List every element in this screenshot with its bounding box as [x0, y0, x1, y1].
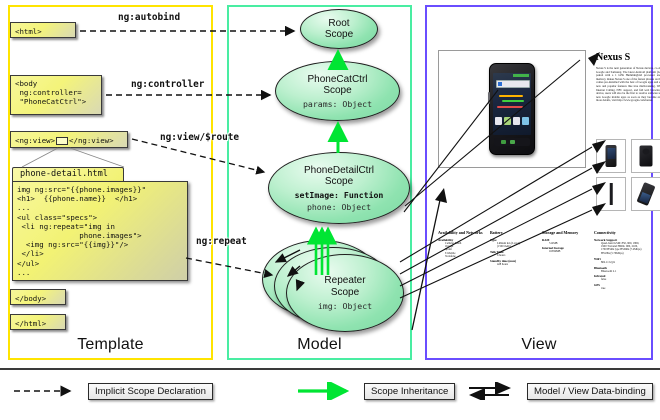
scope-phonecatctrl: PhoneCatCtrl Scope params: Object	[275, 61, 400, 121]
scope-root: Root Scope	[300, 9, 378, 49]
legend: Implicit Scope Declaration Scope Inherit…	[0, 368, 660, 420]
wallpaper-stripe-red	[497, 106, 523, 108]
spec-value: false	[594, 278, 642, 281]
phone-statusbar-icon	[513, 74, 529, 77]
phone-app-dock	[495, 117, 529, 128]
scope-phonecatctrl-title-line1: PhoneCatCtrl	[307, 74, 367, 85]
scope-phonecatctrl-title-line2: Scope	[323, 85, 351, 96]
product-description: Nexus S is the next generation of Nexus …	[596, 67, 660, 103]
code-html-open: <html>	[10, 22, 76, 38]
scope-repeater-member-img: img: Object	[318, 301, 372, 311]
scope-phonedetailctrl-member-setimage: setImage: Function	[295, 190, 384, 200]
thumbnail-3[interactable]	[596, 177, 626, 211]
phone-side-thumb-icon	[610, 183, 613, 205]
phone-detail-file: phone-detail.html img ng:src="{{phone.im…	[12, 167, 198, 283]
scope-phonedetailctrl-title-line2: Scope	[325, 176, 353, 187]
app-icon-1	[495, 117, 502, 125]
ngview-slot-icon	[56, 137, 68, 145]
dashed-arrow-icon	[10, 382, 82, 400]
edge-label-controller: ng:controller	[131, 79, 204, 90]
scope-repeater-title: Repeater Scope	[324, 275, 365, 298]
spec-header-connectivity: Connectivity	[594, 230, 642, 235]
scope-phonedetailctrl-member-phone: phone: Object	[307, 202, 371, 212]
scope-phonecatctrl-title: PhoneCatCtrl Scope	[307, 74, 367, 97]
diagram-canvas: <html> <body ng:controller= "PhoneCatCtr…	[0, 0, 660, 420]
spec-table: Availability and Networks Availability C…	[438, 230, 644, 330]
spec-value: Bluetooth 2.1	[594, 270, 642, 273]
scope-repeater-front: Repeater Scope img: Object	[286, 254, 404, 332]
double-arrow-icon	[465, 382, 521, 400]
ngview-open-tag: <ng:view>	[15, 136, 55, 145]
scope-root-title: Root Scope	[325, 18, 353, 41]
spec-value: true	[594, 287, 642, 290]
app-icon-2	[504, 117, 511, 125]
ngview-close-tag: </ng:view>	[69, 136, 114, 145]
spec-value: 428 hours	[490, 263, 538, 266]
phone-hardware-buttons-icon	[494, 138, 530, 146]
scope-phonecatctrl-member-params: params: Object	[303, 99, 372, 109]
scope-phonedetailctrl: PhoneDetailCtrl Scope setImage: Function…	[268, 152, 410, 224]
phone-screen	[493, 73, 531, 135]
phone-back-thumb-icon	[640, 146, 653, 167]
legend-divider	[0, 368, 660, 370]
detail-filename-tab: phone-detail.html	[12, 167, 124, 182]
phone-angle-thumb-icon	[637, 182, 656, 206]
app-icon-3	[513, 117, 520, 125]
thumbnail-2[interactable]	[631, 139, 660, 173]
spec-column-availability: Availability and Networks Availability C…	[438, 230, 486, 259]
spec-header-availability: Availability and Networks	[438, 230, 486, 235]
spec-column-storage: Storage and Memory RAM 512MB Internal St…	[542, 230, 590, 254]
spec-column-connectivity: Connectivity Network Support Quad-band G…	[594, 230, 642, 291]
spec-header-storage: Storage and Memory	[542, 230, 590, 235]
spec-value: 512MB	[542, 242, 590, 245]
app-icon-4	[522, 117, 529, 125]
thumbnail-4[interactable]	[631, 177, 660, 211]
wallpaper-stripe-orange	[499, 95, 523, 97]
scope-phonedetailctrl-title-line1: PhoneDetailCtrl	[304, 165, 374, 176]
spec-header-battery: Battery	[490, 230, 538, 235]
legend-label-implicit-scope: Implicit Scope Declaration	[88, 383, 213, 400]
code-ngview: <ng:view></ng:view>	[10, 131, 128, 148]
spec-value: 802.11 b/g/n	[594, 261, 642, 264]
phone-hero-image-frame	[438, 50, 586, 168]
scope-repeater-stack: Repeater Scope img: Object	[262, 238, 422, 338]
green-arrow-icon	[294, 382, 358, 400]
scope-repeater-title-line2: Scope	[331, 287, 359, 298]
wallpaper-stripe-green	[502, 100, 524, 102]
scope-phonedetailctrl-title: PhoneDetailCtrl Scope	[304, 165, 374, 188]
thumbnail-1[interactable]	[596, 139, 626, 173]
code-html-close: </html>	[10, 314, 66, 330]
spec-value: 16384MB	[542, 250, 590, 253]
scope-root-title-line2: Scope	[325, 29, 353, 40]
detail-code-body: img ng:src="{{phone.images}}" <h1> {{pho…	[12, 181, 188, 281]
legend-item-implicit-scope: Implicit Scope Declaration	[10, 382, 213, 400]
spec-column-battery: Battery Type Lithium Ion (Li-Ion) (1500 …	[490, 230, 538, 266]
legend-item-data-binding: Model / View Data-binding	[465, 382, 653, 400]
spec-value: Vodafone	[438, 255, 486, 258]
legend-label-scope-inheritance: Scope Inheritance	[364, 383, 455, 400]
spec-value: Quad-band GSM: 850, 900, 1800, 1900 Tri-…	[594, 242, 642, 256]
product-title: Nexus S	[596, 52, 630, 63]
legend-item-scope-inheritance: Scope Inheritance	[294, 382, 455, 400]
edge-label-autobind: ng:autobind	[118, 12, 180, 23]
edge-label-ngrepeat: ng:repeat	[196, 236, 247, 247]
scope-root-title-line1: Root	[328, 18, 349, 29]
spec-value: 6 hours	[490, 254, 538, 257]
phone-device-illustration	[489, 63, 535, 155]
phone-front-thumb-icon	[606, 145, 617, 167]
code-body-open: <body ng:controller= "PhoneCatCtrl">	[10, 75, 102, 115]
phone-search-widget-icon	[496, 80, 530, 88]
phone-volume-button-icon	[488, 92, 490, 104]
legend-label-data-binding: Model / View Data-binding	[527, 383, 653, 400]
view-rendered-page: Nexus S Nexus S is the next generation o…	[432, 12, 646, 342]
edge-label-ngview-route: ng:view/$route	[160, 132, 239, 143]
spec-value: (1500 mAh)	[490, 245, 538, 248]
scope-repeater-title-line1: Repeater	[324, 275, 365, 286]
code-body-close: </body>	[10, 289, 66, 305]
